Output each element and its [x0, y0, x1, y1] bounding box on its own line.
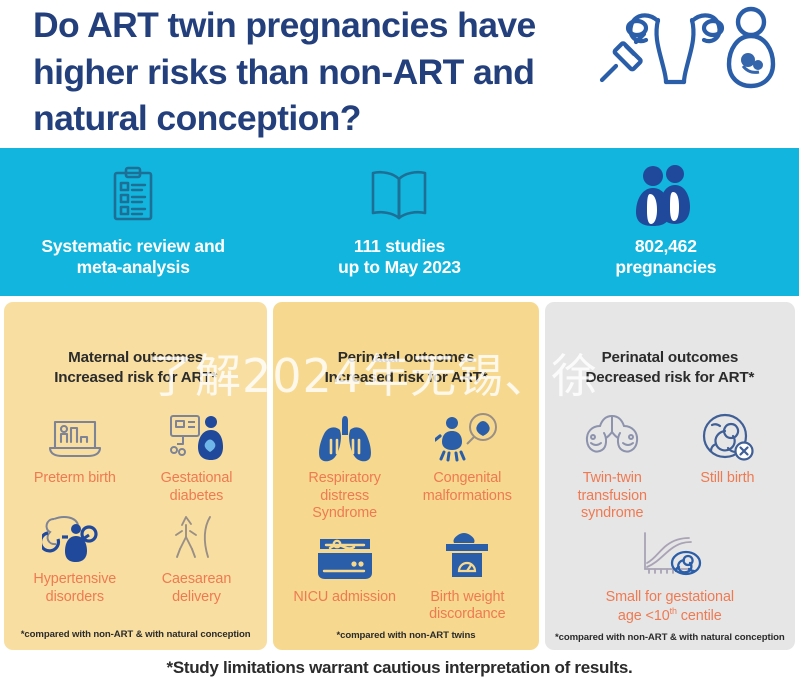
panel-title: Perinatal outcomesIncreased risk for ART…	[283, 348, 528, 388]
item-label: Twin-twintransfusionsyndrome	[578, 470, 647, 523]
panel-footnote: *compared with non-ART & with natural co…	[14, 629, 257, 642]
growth-chart-fetus-icon	[631, 529, 709, 581]
panel-items: Respiratory distressSyndrome	[283, 410, 528, 630]
stats-band: Systematic review andmeta-analysis 111 s…	[0, 148, 799, 296]
item-label: Respiratory distressSyndrome	[283, 470, 406, 523]
item-label: Congenitalmalformations	[423, 470, 512, 505]
item-still-birth: Still birth	[670, 410, 785, 523]
panel-title: Perinatal outcomesDecreased risk for ART…	[555, 348, 785, 388]
nicu-incubator-icon	[316, 529, 374, 581]
panel-footnote: *compared with non-ART twins	[283, 630, 528, 643]
bottom-note: *Study limitations warrant cautious inte…	[0, 652, 799, 684]
item-gestational-diabetes: Gestationaldiabetes	[136, 410, 258, 505]
item-label: Hypertensivedisorders	[33, 571, 116, 606]
stat-label: 802,462pregnancies	[615, 236, 716, 279]
item-label: Still birth	[700, 470, 754, 488]
lungs-icon	[314, 410, 376, 462]
item-label: Birth weightdiscordance	[429, 589, 506, 624]
stat-label: Systematic review andmeta-analysis	[41, 236, 225, 279]
clipboard-checklist-icon	[109, 164, 157, 226]
panel-footnote: *compared with non-ART & with natural co…	[555, 632, 785, 645]
item-label: Preterm birth	[34, 470, 116, 488]
item-birth-weight-discordance: Birth weightdiscordance	[406, 529, 529, 624]
page-title: Do ART twin pregnancies have higher risk…	[33, 2, 613, 142]
item-respiratory-distress: Respiratory distressSyndrome	[283, 410, 406, 523]
two-pregnant-people-icon	[633, 164, 699, 226]
header-icon-group	[596, 6, 781, 90]
fetus-cross-circle-icon	[698, 410, 756, 462]
bottom-note-text: *Study limitations warrant cautious inte…	[167, 658, 633, 678]
item-hypertensive-disorders: Hypertensivedisorders	[14, 511, 136, 606]
baby-magnifier-heart-icon	[435, 410, 499, 462]
caesarean-scar-icon	[168, 511, 224, 563]
panel-items: Preterm birth	[14, 410, 257, 629]
baby-weight-scale-icon	[438, 529, 496, 581]
item-label: Caesareandelivery	[162, 571, 232, 606]
item-congenital-malformations: Congenitalmalformations	[406, 410, 529, 523]
panel-items: Twin-twintransfusionsyndrome	[555, 410, 785, 632]
stat-pregnancies: 802,462pregnancies	[533, 148, 799, 279]
item-label: NICU admission	[293, 589, 396, 607]
incubator-chart-icon	[46, 410, 104, 462]
panel-perinatal-increased: Perinatal outcomesIncreased risk for ART…	[273, 302, 538, 650]
outcome-panels: Maternal outcomesIncreased risk for ART*	[0, 302, 799, 650]
panel-perinatal-decreased: Perinatal outcomesDecreased risk for ART…	[545, 302, 795, 650]
item-small-for-gestational-age: Small for gestationalage <10th centile	[555, 529, 785, 626]
item-caesarean-delivery: Caesareandelivery	[136, 511, 258, 606]
panel-title: Maternal outcomesIncreased risk for ART*	[14, 348, 257, 388]
stat-label: 111 studiesup to May 2023	[338, 236, 461, 279]
item-label: Gestationaldiabetes	[161, 470, 233, 505]
stat-studies: 111 studiesup to May 2023	[266, 148, 532, 279]
item-twin-twin-transfusion: Twin-twintransfusionsyndrome	[555, 410, 670, 523]
blood-pressure-pregnant-icon	[42, 511, 108, 563]
glucose-monitor-pregnant-icon	[165, 410, 227, 462]
stat-systematic-review: Systematic review andmeta-analysis	[0, 148, 266, 279]
pregnant-woman-icon	[721, 6, 781, 90]
item-label: Small for gestationalage <10th centile	[606, 589, 734, 626]
twin-fetuses-icon	[578, 410, 646, 462]
item-nicu-admission: NICU admission	[283, 529, 406, 624]
infographic-page: Do ART twin pregnancies have higher risk…	[0, 0, 799, 684]
panel-maternal-increased: Maternal outcomesIncreased risk for ART*	[4, 302, 267, 650]
item-preterm-birth: Preterm birth	[14, 410, 136, 505]
open-book-icon	[368, 164, 430, 226]
header: Do ART twin pregnancies have higher risk…	[0, 0, 799, 145]
